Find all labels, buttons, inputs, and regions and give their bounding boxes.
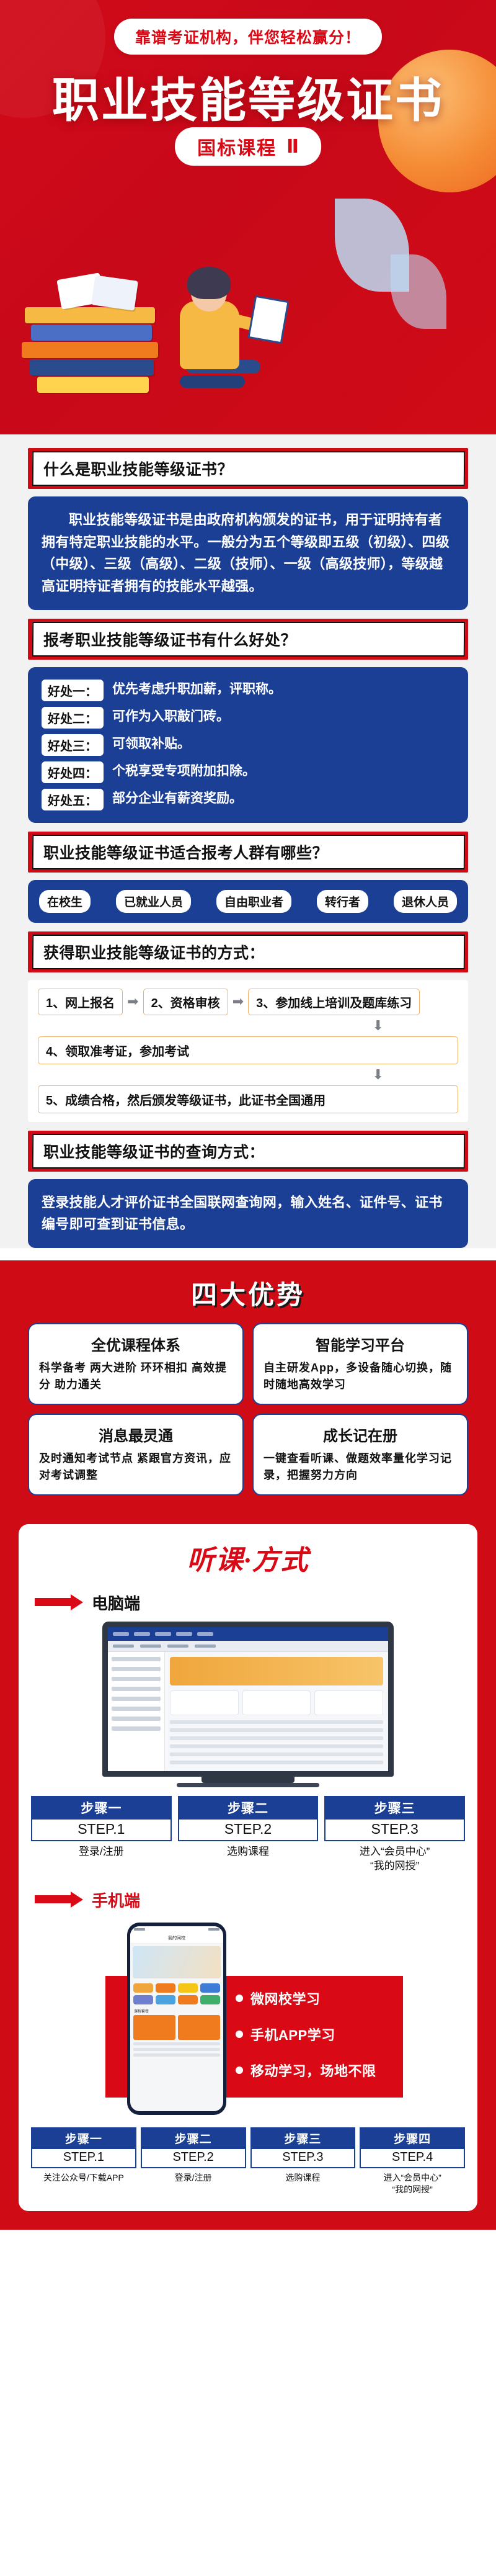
arrow-right-icon — [35, 1892, 84, 1908]
what-is-paragraph: 职业技能等级证书是由政府机构颁发的证书，用于证明持有者拥有特定职业技能的水平。一… — [42, 509, 454, 598]
advantage-card: 成长记在册 一键查看听课、做题效率量化学习记录，把握努力方向 — [252, 1414, 468, 1496]
audience-panel: 在校生 已就业人员 自由职业者 转行者 退休人员 — [28, 880, 468, 923]
benefit-item: 好处二： 可作为入职敲门砖。 — [42, 707, 454, 729]
listening-methods-section: 听课·方式 电脑端 — [0, 1513, 496, 2230]
section-header-ribbon: 职业技能等级证书的查询方式： — [28, 1131, 468, 1172]
mobile-step-code: STEP.1 — [31, 2149, 136, 2168]
advantage-card-desc: 一键查看听课、做题效率量化学习记录，把握努力方向 — [263, 1450, 457, 1484]
advantages-title: 四大优势 — [28, 1274, 468, 1312]
benefit-item: 好处三： 可领取补贴。 — [42, 734, 454, 756]
mobile-bullet-item: 手机APP学习 — [236, 2024, 376, 2044]
bullet-dot-icon — [236, 2031, 243, 2038]
mobile-bullet-text: 移动学习，场地不限 — [250, 2060, 376, 2080]
step-box-5: 5、成绩合格，然后颁发等级证书，此证书全国通用 — [38, 1085, 458, 1113]
section-how-to-get: 获得职业技能等级证书的方式： 1、网上报名 ➡ 2、资格审核 ➡ 3、参加线上培… — [0, 931, 496, 1122]
pc-step-3: 步骤三 STEP.3 进入“会员中心” “我的网授” — [324, 1796, 465, 1874]
pc-banner — [170, 1657, 383, 1685]
section-heading: 获得职业技能等级证书的方式： — [43, 941, 454, 963]
mobile-bullet-item: 微网校学习 — [236, 1988, 376, 2008]
pc-step-label: 步骤二 — [178, 1796, 319, 1820]
pc-label: 电脑端 — [92, 1591, 140, 1614]
step-box-3: 3、参加线上培训及题库练习 — [248, 989, 420, 1015]
hero-tagline: 靠谱考证机构，伴您轻松赢分！ — [135, 29, 361, 47]
mobile-step-label: 步骤三 — [250, 2127, 356, 2149]
arrow-right-icon: ➡ — [127, 995, 138, 1008]
mobile-step-label: 步骤二 — [141, 2127, 246, 2149]
benefit-item: 好处五： 部分企业有薪资奖励。 — [42, 789, 454, 810]
benefits-panel: 好处一： 优先考虑升职加薪，评职称。 好处二： 可作为入职敲门砖。 好处三： 可… — [28, 667, 468, 823]
step-box-1: 1、网上报名 — [38, 989, 123, 1015]
section-header-ribbon: 职业技能等级证书适合报考人群有哪些？ — [28, 832, 468, 873]
section-heading: 报考职业技能等级证书有什么好处？ — [43, 628, 454, 650]
section-heading: 什么是职业技能等级证书？ — [43, 457, 454, 480]
course-badge-number: Ⅱ — [286, 136, 299, 158]
pc-sidebar — [108, 1652, 165, 1777]
advantages-section: 四大优势 全优课程体系 科学备考 两大进阶 环环相扣 高效提分 助力通关 智能学… — [0, 1260, 496, 1513]
mobile-bullet-text: 微网校学习 — [250, 1988, 321, 2008]
person-leg-back — [180, 375, 245, 388]
bullet-dot-icon — [236, 1995, 243, 2002]
book-open-right — [91, 275, 138, 310]
benefit-text: 可领取补贴。 — [112, 734, 190, 753]
hero-banner: 靠谱考证机构，伴您轻松赢分！ 职业技能等级证书 国标课程 Ⅱ — [0, 0, 496, 434]
book-stack-item — [25, 307, 155, 323]
pc-step-code: STEP.1 — [31, 1820, 172, 1841]
mobile-step-desc: 进入“会员中心” “我的网授” — [360, 2172, 465, 2196]
benefit-item: 好处一： 优先考虑升职加薪，评职称。 — [42, 680, 454, 701]
advantage-card: 消息最灵通 及时通知考试节点 紧跟官方资讯，应对考试调整 — [28, 1414, 244, 1496]
pc-base — [177, 1783, 319, 1787]
page-title: 职业技能等级证书 — [0, 62, 496, 130]
benefit-text: 优先考虑升职加薪，评职称。 — [112, 680, 281, 698]
section-benefits: 报考职业技能等级证书有什么好处？ 好处一： 优先考虑升职加薪，评职称。 好处二：… — [0, 619, 496, 823]
person-holding-book — [247, 295, 289, 344]
phone-mockup: 我的网校 课程套餐 — [127, 1923, 226, 2115]
pc-content — [108, 1652, 388, 1777]
query-panel: 登录技能人才评价证书全国联网查询网，输入姓名、证件号、证书编号即可查到证书信息。 — [28, 1179, 468, 1248]
benefit-tag: 好处二： — [42, 707, 104, 729]
steps-panel: 1、网上报名 ➡ 2、资格审核 ➡ 3、参加线上培训及题库练习 ⬇ 4、领取准考… — [28, 980, 468, 1122]
footer-spacer — [0, 2230, 496, 2242]
mobile-label: 手机端 — [92, 1888, 140, 1911]
audience-chip: 自由职业者 — [216, 890, 291, 913]
phone-statusbar — [130, 1926, 223, 1934]
hero-tagline-pill: 靠谱考证机构，伴您轻松赢分！ — [114, 19, 382, 55]
pc-step-2: 步骤二 STEP.2 选购课程 — [178, 1796, 319, 1874]
section-header-ribbon: 获得职业技能等级证书的方式： — [28, 931, 468, 972]
benefit-tag: 好处一： — [42, 680, 104, 701]
pc-label-row: 电脑端 — [35, 1591, 465, 1614]
pc-step-desc: 选购课程 — [178, 1845, 319, 1859]
section-audience: 职业技能等级证书适合报考人群有哪些？ 在校生 已就业人员 自由职业者 转行者 退… — [0, 832, 496, 923]
pc-step-label: 步骤一 — [31, 1796, 172, 1820]
mobile-step-4: 步骤四 STEP.4 进入“会员中心” “我的网授” — [360, 2127, 465, 2196]
advantage-card-title: 全优课程体系 — [39, 1333, 232, 1355]
course-badge: 国标课程 Ⅱ — [175, 127, 321, 166]
phone-navbar: 我的网校 — [130, 1934, 223, 1944]
mobile-step-desc: 选购课程 — [250, 2172, 356, 2184]
pc-steps-row: 步骤一 STEP.1 登录/注册 步骤二 STEP.2 选购课程 步骤三 STE… — [31, 1796, 465, 1874]
mobile-step-desc: 登录/注册 — [141, 2172, 246, 2184]
pc-step-label: 步骤三 — [324, 1796, 465, 1820]
advantages-grid: 全优课程体系 科学备考 两大进阶 环环相扣 高效提分 助力通关 智能学习平台 自… — [28, 1323, 468, 1496]
mobile-step-label: 步骤一 — [31, 2127, 136, 2149]
book-stack-item — [37, 377, 149, 393]
steps-row-1: 1、网上报名 ➡ 2、资格审核 ➡ 3、参加线上培训及题库练习 — [38, 989, 458, 1015]
mobile-label-row: 手机端 — [35, 1888, 465, 1911]
audience-chip: 已就业人员 — [116, 890, 191, 913]
phone-course-cards — [130, 2015, 223, 2040]
mobile-step-code: STEP.3 — [250, 2149, 356, 2168]
pc-step-code: STEP.3 — [324, 1820, 465, 1841]
pc-screenshot-mockup — [102, 1622, 394, 1787]
audience-chip: 在校生 — [39, 890, 91, 913]
section-heading: 职业技能等级证书适合报考人群有哪些？ — [43, 841, 454, 863]
phone-section-label: 课程套餐 — [130, 2007, 223, 2015]
benefit-tag: 好处五： — [42, 789, 104, 810]
pc-stand — [201, 1777, 294, 1783]
phone-icon-grid — [130, 1981, 223, 2007]
query-paragraph: 登录技能人才评价证书全国联网查询网，输入姓名、证件号、证书编号即可查到证书信息。 — [42, 1192, 454, 1236]
advantage-card-title: 智能学习平台 — [263, 1333, 457, 1355]
mobile-step-1: 步骤一 STEP.1 关注公众号/下载APP — [31, 2127, 136, 2196]
advantage-card: 智能学习平台 自主研发App，多设备随心切换，随时随地高效学习 — [252, 1323, 468, 1405]
pc-screen — [102, 1622, 394, 1777]
arrow-right-icon: ➡ — [232, 995, 244, 1008]
advantage-card: 全优课程体系 科学备考 两大进阶 环环相扣 高效提分 助力通关 — [28, 1323, 244, 1405]
mobile-step-code: STEP.2 — [141, 2149, 246, 2168]
pc-step-desc: 登录/注册 — [31, 1845, 172, 1859]
mobile-steps-row: 步骤一 STEP.1 关注公众号/下载APP 步骤二 STEP.2 登录/注册 … — [31, 2127, 465, 2196]
pc-list-rows — [170, 1720, 383, 1764]
advantage-card-desc: 科学备考 两大进阶 环环相扣 高效提分 助力通关 — [39, 1360, 232, 1393]
audience-chip: 转行者 — [317, 890, 368, 913]
section-header-ribbon: 报考职业技能等级证书有什么好处？ — [28, 619, 468, 660]
pc-course-cards — [170, 1690, 383, 1715]
pc-step-desc: 进入“会员中心” “我的网授” — [324, 1845, 465, 1874]
benefit-text: 可作为入职敲门砖。 — [112, 707, 229, 725]
listening-methods-card: 听课·方式 电脑端 — [19, 1524, 477, 2212]
section-what-is: 什么是职业技能等级证书？ 职业技能等级证书是由政府机构颁发的证书，用于证明持有者… — [0, 448, 496, 610]
pc-subnav — [108, 1641, 388, 1652]
pc-navbar — [108, 1627, 388, 1641]
book-stack-item — [31, 325, 152, 341]
phone-screen: 我的网校 课程套餐 — [130, 1926, 223, 2111]
audience-chip-list: 在校生 已就业人员 自由职业者 转行者 退休人员 — [39, 890, 457, 913]
hero-illustration — [0, 174, 496, 434]
benefit-tag: 好处四： — [42, 761, 104, 783]
person-hair — [187, 267, 231, 299]
benefit-text: 部分企业有薪资奖励。 — [112, 789, 242, 807]
mobile-step-desc: 关注公众号/下载APP — [31, 2172, 136, 2184]
advantage-card-desc: 自主研发App，多设备随心切换，随时随地高效学习 — [263, 1360, 457, 1393]
section-header-ribbon: 什么是职业技能等级证书？ — [28, 448, 468, 489]
advantage-card-title: 消息最灵通 — [39, 1424, 232, 1445]
phone-banner — [133, 1946, 221, 1978]
mobile-step-2: 步骤二 STEP.2 登录/注册 — [141, 2127, 246, 2196]
content-body: 什么是职业技能等级证书？ 职业技能等级证书是由政府机构颁发的证书，用于证明持有者… — [0, 434, 496, 1248]
phone-more-rows — [130, 2040, 223, 2062]
arrow-down-icon: ⬇ — [38, 1067, 458, 1083]
mobile-bullet-text: 手机APP学习 — [250, 2024, 335, 2044]
advantage-card-desc: 及时通知考试节点 紧跟官方资讯，应对考试调整 — [39, 1450, 232, 1484]
pc-main-area — [165, 1652, 388, 1777]
section-heading: 职业技能等级证书的查询方式： — [43, 1140, 454, 1162]
arrow-down-icon: ⬇ — [38, 1018, 458, 1034]
pc-step-code: STEP.2 — [178, 1820, 319, 1841]
benefit-text: 个税享受专项附加扣除。 — [112, 761, 255, 780]
bullet-dot-icon — [236, 2067, 243, 2074]
mobile-mockup-zone: 我的网校 课程套餐 微网校学习 — [31, 1919, 465, 2117]
mobile-step-label: 步骤四 — [360, 2127, 465, 2149]
benefit-tag: 好处三： — [42, 734, 104, 756]
advantage-card-title: 成长记在册 — [263, 1424, 457, 1445]
leaf-decor-2 — [391, 254, 446, 329]
course-badge-label: 国标课程 — [197, 133, 277, 160]
mobile-step-3: 步骤三 STEP.3 选购课程 — [250, 2127, 356, 2196]
book-stack-item — [22, 342, 158, 358]
section-query: 职业技能等级证书的查询方式： 登录技能人才评价证书全国联网查询网，输入姓名、证件… — [0, 1131, 496, 1248]
step-box-4: 4、领取准考证，参加考试 — [38, 1036, 458, 1064]
benefit-item: 好处四： 个税享受专项附加扣除。 — [42, 761, 454, 783]
mobile-step-code: STEP.4 — [360, 2149, 465, 2168]
what-is-panel: 职业技能等级证书是由政府机构颁发的证书，用于证明持有者拥有特定职业技能的水平。一… — [28, 496, 468, 610]
mobile-bullet-item: 移动学习，场地不限 — [236, 2060, 376, 2080]
mobile-bullet-list: 微网校学习 手机APP学习 移动学习，场地不限 — [236, 1988, 376, 2096]
arrow-right-icon — [35, 1594, 84, 1610]
book-stack-item — [30, 359, 154, 375]
listening-methods-title: 听课·方式 — [31, 1538, 465, 1577]
audience-chip: 退休人员 — [394, 890, 457, 913]
step-box-2: 2、资格审核 — [143, 989, 228, 1015]
pc-step-1: 步骤一 STEP.1 登录/注册 — [31, 1796, 172, 1874]
